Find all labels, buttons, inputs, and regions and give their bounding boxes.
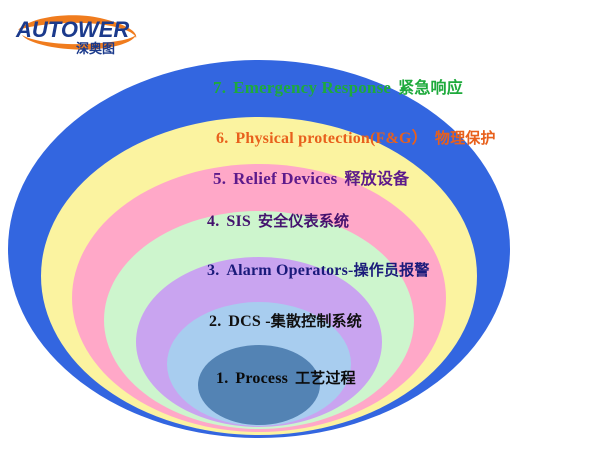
layer-4-number: 4. <box>207 213 219 230</box>
logo-wordmark: AUTOWER <box>15 17 129 42</box>
layer-4-label-en: SIS <box>226 213 251 230</box>
layer-5-number: 5. <box>213 169 226 188</box>
layer-labels: 7.Emergency Response紧急响应 6.Physical prot… <box>0 0 600 464</box>
layer-7-label-cn: 紧急响应 <box>398 78 463 97</box>
layer-label-2: 2.DCS -集散控制系统 <box>209 310 362 331</box>
layer-4-label-cn: 安全仪表系统 <box>258 212 349 230</box>
logo-artwork: AUTOWER 深奥图 <box>14 8 144 56</box>
slide-canvas: AUTOWER 深奥图 7.Emergency Response紧急响应 6.P… <box>0 0 600 464</box>
layer-6-label-en: Physical protection(F&G） <box>235 130 427 147</box>
layer-label-3: 3.Alarm Operators-操作员报警 <box>207 259 430 280</box>
logo-wordmark-cn: 深奥图 <box>76 41 115 56</box>
layer-label-7: 7.Emergency Response紧急响应 <box>213 74 463 98</box>
layer-2-label-en: DCS - <box>228 313 270 330</box>
layer-3-number: 3. <box>207 262 219 279</box>
layer-5-label-cn: 释放设备 <box>344 169 409 188</box>
layer-1-number: 1. <box>216 370 228 387</box>
layer-label-4: 4.SIS安全仪表系统 <box>207 210 349 231</box>
layer-7-label-en: Emergency Response <box>233 78 391 97</box>
layer-label-6: 6.Physical protection(F&G）物理保护 <box>216 124 496 148</box>
layer-7-number: 7. <box>213 78 226 97</box>
layer-label-5: 5.Relief Devices释放设备 <box>213 165 409 189</box>
layer-1-label-cn: 工艺过程 <box>295 369 356 387</box>
layer-label-1: 1.Process工艺过程 <box>216 367 356 388</box>
layer-2-number: 2. <box>209 313 221 330</box>
layer-6-label-cn: 物理保护 <box>435 129 496 147</box>
company-logo: AUTOWER 深奥图 <box>14 8 144 56</box>
layer-3-label-cn: 操作员报警 <box>354 261 430 279</box>
layer-1-label-en: Process <box>235 370 288 387</box>
layer-3-label-en: Alarm Operators- <box>226 262 353 279</box>
layer-5-label-en: Relief Devices <box>233 169 337 188</box>
layer-2-label-cn: 集散控制系统 <box>271 312 362 330</box>
layer-6-number: 6. <box>216 130 228 147</box>
